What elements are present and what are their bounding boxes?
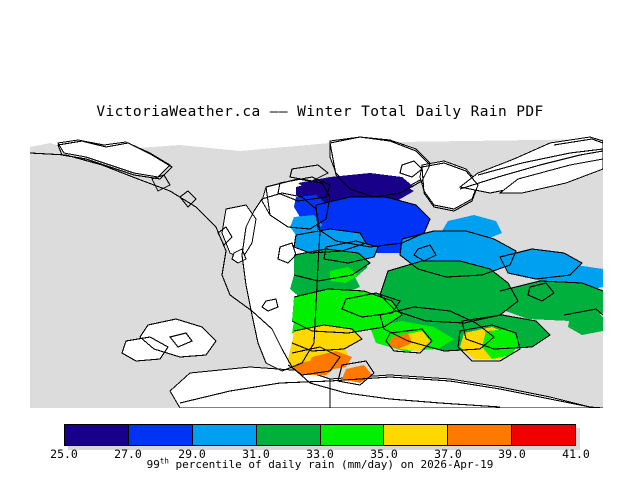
colorbar-segment-37.0-39.0[interactable] xyxy=(448,425,512,445)
contour-map[interactable] xyxy=(30,135,603,408)
caption-percentile-number: 99 xyxy=(147,458,160,471)
caption-ordinal-suffix: th xyxy=(160,456,169,465)
colorbar[interactable] xyxy=(64,424,576,446)
colorbar-segments[interactable] xyxy=(64,424,576,446)
colorbar-segment-35.0-37.0[interactable] xyxy=(384,425,448,445)
colorbar-segment-29.0-31.0[interactable] xyxy=(193,425,257,445)
colorbar-segment-27.0-29.0[interactable] xyxy=(129,425,193,445)
colorbar-segment-25.0-27.0[interactable] xyxy=(65,425,129,445)
caption-description: percentile of daily rain (mm/day) on 202… xyxy=(169,458,494,471)
colorbar-segment-39.0-41.0[interactable] xyxy=(512,425,575,445)
colorbar-segment-31.0-33.0[interactable] xyxy=(257,425,321,445)
colorbar-segment-33.0-35.0[interactable] xyxy=(321,425,385,445)
page-title: VictoriaWeather.ca —— Winter Total Daily… xyxy=(0,104,640,120)
map-panel[interactable] xyxy=(30,135,603,408)
colorbar-caption: 99th percentile of daily rain (mm/day) o… xyxy=(0,458,640,471)
